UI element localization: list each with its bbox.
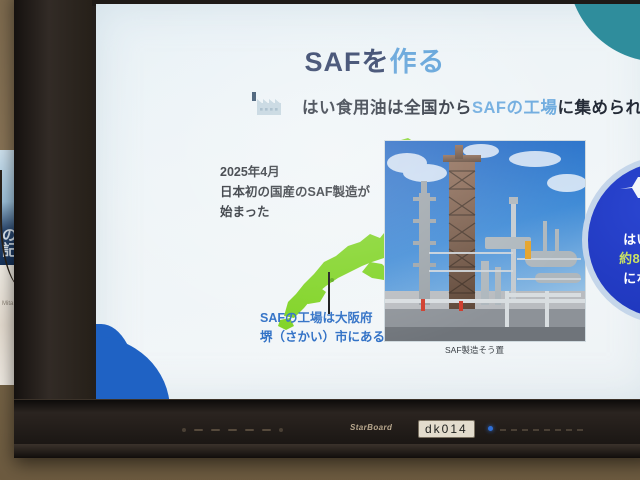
speaker-grille	[500, 429, 583, 431]
callout-line-4: になります！	[588, 269, 640, 289]
subtitle-pre: はい食用油は全国から	[302, 99, 472, 117]
interactive-whiteboard-display: SAFを作る はい食用油は全国からSAFの工場に集められます 2025年4月 日…	[14, 0, 640, 458]
photo-caption: SAF製造そう置	[445, 344, 504, 356]
callout-line-3: 約8わりがSAF	[588, 249, 640, 269]
control-button-1[interactable]	[194, 429, 203, 431]
osaka-pointer-line	[328, 272, 330, 314]
bezel-left	[14, 0, 92, 458]
display-control-buttons[interactable]	[182, 428, 283, 432]
asset-tag-label: dk014	[418, 420, 475, 438]
presentation-slide: SAFを作る はい食用油は全国からSAFの工場に集められます 2025年4月 日…	[96, 4, 640, 400]
saf-plant-photo	[384, 140, 586, 342]
subtitle-post: に集められます	[558, 99, 640, 117]
callout-text: 集めた はい食用油の 約8わりがSAF になります！	[588, 210, 640, 288]
bezel-lip	[14, 444, 640, 458]
airplane-icon	[618, 174, 640, 200]
slide-title-main: SAF	[305, 47, 362, 77]
note-osaka: SAFの工場は大阪府 堺（さかい）市にある	[260, 309, 385, 347]
corner-decoration-blue	[96, 336, 170, 400]
callout-line-2: はい食用油の	[588, 230, 640, 250]
control-button-2[interactable]	[211, 429, 220, 431]
factory-icon	[248, 90, 288, 118]
control-button-4[interactable]	[245, 429, 254, 431]
control-button-5[interactable]	[262, 429, 271, 431]
slide-title-highlight: 作る	[390, 47, 446, 77]
slide-subtitle: はい食用油は全国からSAFの工場に集められます	[302, 94, 640, 118]
control-dot-1[interactable]	[182, 428, 186, 432]
control-button-3[interactable]	[228, 429, 237, 431]
slide-title: SAFを作る	[96, 40, 640, 79]
callout-line-1: 集めた	[588, 210, 640, 230]
slide-title-particle: を	[362, 47, 390, 77]
bezel-bottom: StarBoard dk014	[14, 399, 640, 458]
display-brand-logo: StarBoard	[350, 423, 392, 432]
subtitle-highlight: SAFの工場	[472, 99, 558, 117]
control-dot-2[interactable]	[279, 428, 283, 432]
power-led-icon	[488, 426, 493, 431]
